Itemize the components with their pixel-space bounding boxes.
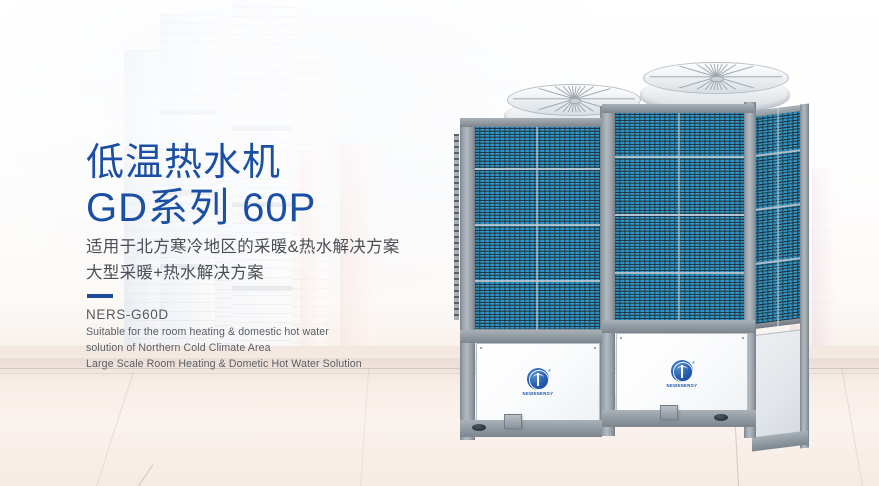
model-number: NERS-G60D <box>86 306 446 323</box>
english-line-3: Large Scale Room Heating & Dometic Hot W… <box>86 357 446 371</box>
front-base-rail-right <box>602 410 756 427</box>
brand-logo-right: ® NEWENERGY <box>665 360 699 388</box>
english-line-2: solution of Northern Cold Climate Area <box>86 341 446 355</box>
front-mid-rail-right <box>602 320 755 333</box>
side-rear-post <box>800 103 809 448</box>
left-post-vent-slots <box>454 134 459 320</box>
brand-name: NEWENERGY <box>518 392 558 397</box>
trademark-symbol: ® <box>548 368 551 373</box>
side-access-panel <box>754 329 804 445</box>
drain-port-left <box>472 424 486 431</box>
front-condenser-coil-left <box>474 120 602 334</box>
trademark-symbol-2: ® <box>692 360 695 365</box>
brand-name-2: NEWENERGY <box>662 384 702 389</box>
side-condenser-coil <box>752 105 804 329</box>
product-banner: 低温热水机 GD系列 60P 适用于北方寒冷地区的采暖&热水解决方案 大型采暖+… <box>0 0 879 486</box>
accent-divider <box>87 294 113 298</box>
heat-pump-unit-image: ® NEWENERGY ® NEWENERGY <box>452 62 820 432</box>
subtitle-line-2: 大型采暖+热水解决方案 <box>86 262 446 284</box>
drain-port-right <box>714 414 728 421</box>
front-center-post <box>600 106 615 436</box>
mounting-bracket-left <box>504 414 522 429</box>
front-left-post <box>460 118 475 440</box>
english-line-1: Suitable for the room heating & domestic… <box>86 325 446 339</box>
front-condenser-coil-right <box>614 106 746 328</box>
subtitle-line-1: 适用于北方寒冷地区的采暖&热水解决方案 <box>86 236 446 258</box>
headline-primary: 低温热水机 <box>86 140 446 186</box>
mounting-bracket-right <box>660 405 678 420</box>
headline-model-series: GD系列 60P <box>86 184 446 232</box>
front-top-rail-right <box>602 104 754 113</box>
front-top-rail <box>460 118 601 127</box>
brand-logo-left: ® NEWENERGY <box>521 368 555 396</box>
banner-copy: 低温热水机 GD系列 60P 适用于北方寒冷地区的采暖&热水解决方案 大型采暖+… <box>86 140 446 372</box>
front-mid-rail-left <box>460 330 602 343</box>
